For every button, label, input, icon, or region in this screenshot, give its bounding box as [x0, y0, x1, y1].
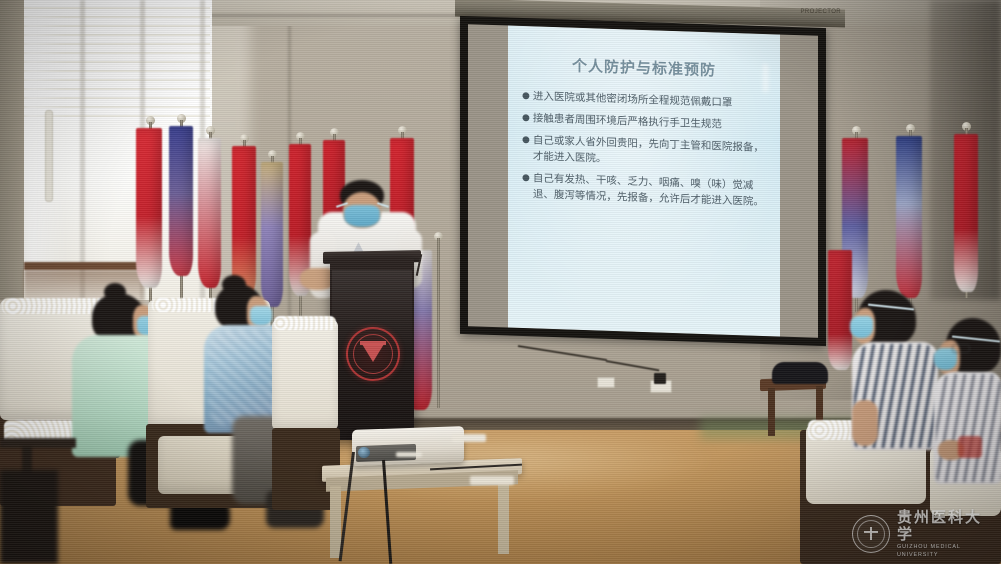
seal-cross-icon	[870, 527, 872, 540]
armchair-doily	[274, 316, 336, 330]
flag-banner	[169, 126, 193, 276]
window-handle	[45, 110, 53, 202]
flag-banner	[896, 136, 922, 298]
flag-banner	[232, 146, 256, 296]
slide-bullet-item: ● 接触患者周围环境后严格执行手卫生规范	[522, 110, 772, 134]
presentation-slide: 个人防护与标准预防 ● 进入医院或其他密闭场所全程规范佩戴口罩 ● 接触患者周围…	[508, 26, 780, 337]
audience-face-mask	[250, 306, 272, 326]
emblem-gem-icon	[362, 344, 384, 362]
side-table-shadow	[0, 470, 58, 564]
slide-bullet-item: ● 进入医院或其他密闭场所全程规范佩戴口罩	[522, 88, 772, 112]
ceiling-trim-line	[185, 14, 475, 17]
audience-face-mask	[850, 316, 873, 338]
projector-table-leg	[498, 482, 509, 554]
flag-pole	[437, 238, 440, 408]
bullet-marker-icon: ●	[522, 88, 530, 104]
side-table-top	[0, 438, 76, 448]
slide-bullet-text: 自己或家人省外回贵阳，先向丁主管和医院报备，才能进入医院。	[533, 132, 772, 172]
red-item	[958, 436, 982, 458]
photo-scene: PROJECTOR 个人防护与标准预防 ● 进入医院或其他密闭场所全程规范佩戴口…	[0, 0, 1001, 564]
wooden-rail	[24, 262, 144, 270]
university-seal-icon	[852, 515, 890, 553]
window-mullion	[80, 0, 85, 300]
projection-screen-surface: 个人防护与标准预防 ● 进入医院或其他密闭场所全程规范佩戴口罩 ● 接触患者周围…	[468, 24, 818, 338]
watermark-english: GUIZHOU MEDICAL UNIVERSITY	[897, 543, 992, 559]
screen-brand-label: PROJECTOR	[795, 9, 841, 16]
stripe-pattern	[936, 374, 1001, 482]
armchair-back	[272, 320, 338, 430]
speaker-face-mask	[344, 205, 380, 227]
flag-banner	[136, 128, 162, 288]
flag-banner	[261, 162, 283, 307]
projection-screen: 个人防护与标准预防 ● 进入医院或其他密闭场所全程规范佩戴口罩 ● 接触患者周围…	[460, 16, 826, 346]
flag-banner	[198, 138, 221, 288]
paper-sheet	[452, 434, 486, 442]
bullet-marker-icon: ●	[522, 132, 530, 164]
slide-bullet-list: ● 进入医院或其他密闭场所全程规范佩戴口罩 ● 接触患者周围环境后严格执行手卫生…	[522, 88, 772, 216]
slide-bullet-text: 进入医院或其他密闭场所全程规范佩戴口罩	[533, 88, 772, 112]
screen-specular-highlight	[763, 64, 768, 92]
paper-sheet	[470, 476, 514, 485]
audience-arm	[852, 400, 878, 446]
projector-vent	[396, 452, 422, 457]
flag-banner	[828, 250, 852, 370]
watermark-text: 贵州医科大学 GUIZHOU MEDICAL UNIVERSITY	[897, 509, 992, 559]
slide-bullet-text: 自己有发热、干咳、乏力、咽痛、嗅（味）觉减退、腹泻等情况，先报备，允许后才能进入…	[533, 170, 772, 210]
bullet-marker-icon: ●	[522, 110, 530, 126]
bullet-marker-icon: ●	[522, 170, 530, 202]
slide-bullet-item: ● 自己有发热、干咳、乏力、咽痛、嗅（味）觉减退、腹泻等情况，先报备，允许后才能…	[522, 170, 772, 210]
wall-plug	[654, 373, 666, 384]
flag-banner	[954, 134, 978, 292]
wall-pillar-left	[0, 0, 24, 300]
side-table-leg	[768, 388, 775, 436]
watermark: 贵州医科大学 GUIZHOU MEDICAL UNIVERSITY	[852, 512, 992, 556]
watermark-chinese: 贵州医科大学	[897, 509, 992, 543]
slide-bullet-item: ● 自己或家人省外回贵阳，先向丁主管和医院报备，才能进入医院。	[522, 132, 772, 172]
projector-lens-icon	[358, 447, 370, 458]
seal-crossbar-icon	[864, 531, 878, 533]
eyeglasses-icon	[952, 344, 970, 353]
podium-emblem-icon	[346, 327, 400, 381]
slide-bullet-text: 接触患者周围环境后严格执行手卫生规范	[533, 110, 772, 134]
slide-title: 个人防护与标准预防	[508, 53, 780, 83]
wall-socket	[597, 377, 615, 388]
black-bag	[772, 362, 828, 384]
